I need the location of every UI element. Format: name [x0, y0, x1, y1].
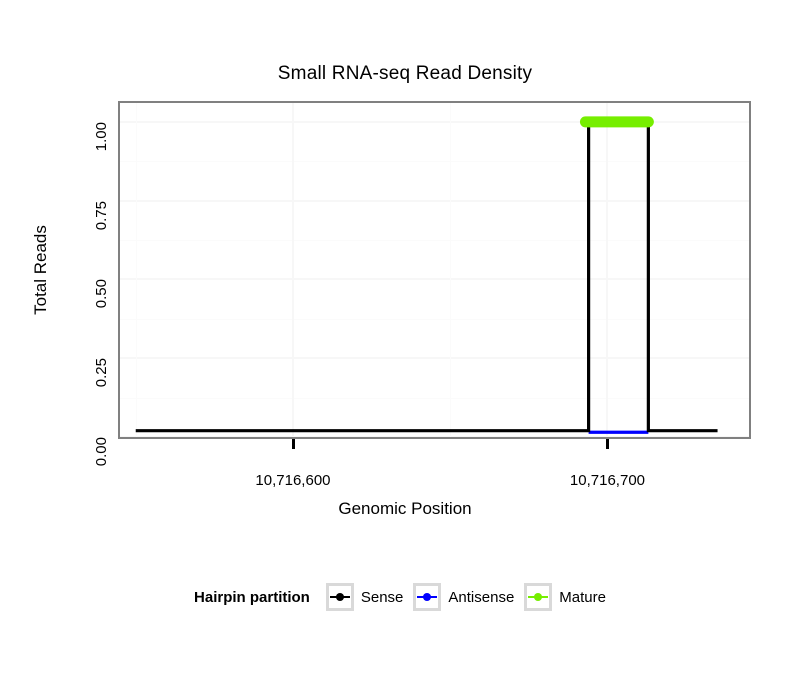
y-tick-text: 1.00 [94, 122, 110, 151]
x-tick-label: 10,716,600 [255, 472, 330, 489]
legend-key-icon [413, 583, 441, 611]
chart-container: Small RNA-seq Read Density Total Reads 0… [0, 0, 810, 690]
y-tick-text: 0.25 [94, 358, 110, 387]
legend-item-antisense[interactable]: Antisense [413, 583, 514, 611]
x-tick-mark [292, 439, 295, 449]
x-axis-ticks: 10,716,60010,716,700 [118, 439, 751, 499]
x-tick-label: 10,716,700 [570, 472, 645, 489]
y-tick-label: 0.50 [32, 271, 102, 287]
legend-label: Antisense [448, 589, 514, 606]
chart-legend: Hairpin partition SenseAntisenseMature [0, 583, 810, 611]
legend-key-dot [423, 593, 431, 601]
y-axis-title-label: Total Reads [31, 225, 51, 315]
legend-key-dot [336, 593, 344, 601]
y-tick-label: 0.25 [32, 350, 102, 366]
y-tick-text: 0.50 [94, 279, 110, 308]
y-tick-label: 0.75 [32, 193, 102, 209]
legend-key-icon [326, 583, 354, 611]
y-axis-title: Total Reads [30, 101, 52, 439]
legend-item-sense[interactable]: Sense [326, 583, 404, 611]
legend-label: Mature [559, 589, 606, 606]
y-axis-ticks: 0.000.250.500.751.00 [50, 101, 110, 439]
plot-panel [118, 101, 751, 439]
legend-label: Sense [361, 589, 404, 606]
legend-item-mature[interactable]: Mature [524, 583, 606, 611]
legend-items: SenseAntisenseMature [326, 583, 616, 611]
y-tick-label: 1.00 [32, 114, 102, 130]
x-axis-title: Genomic Position [0, 498, 810, 520]
legend-key-dot [534, 593, 542, 601]
x-tick-mark [606, 439, 609, 449]
data-series-layer [120, 103, 749, 437]
y-tick-label: 0.00 [32, 429, 102, 445]
legend-title: Hairpin partition [194, 589, 310, 606]
y-tick-text: 0.00 [94, 437, 110, 466]
y-tick-text: 0.75 [94, 201, 110, 230]
chart-title: Small RNA-seq Read Density [0, 62, 810, 86]
series-line-sense [136, 122, 718, 431]
legend-key-icon [524, 583, 552, 611]
